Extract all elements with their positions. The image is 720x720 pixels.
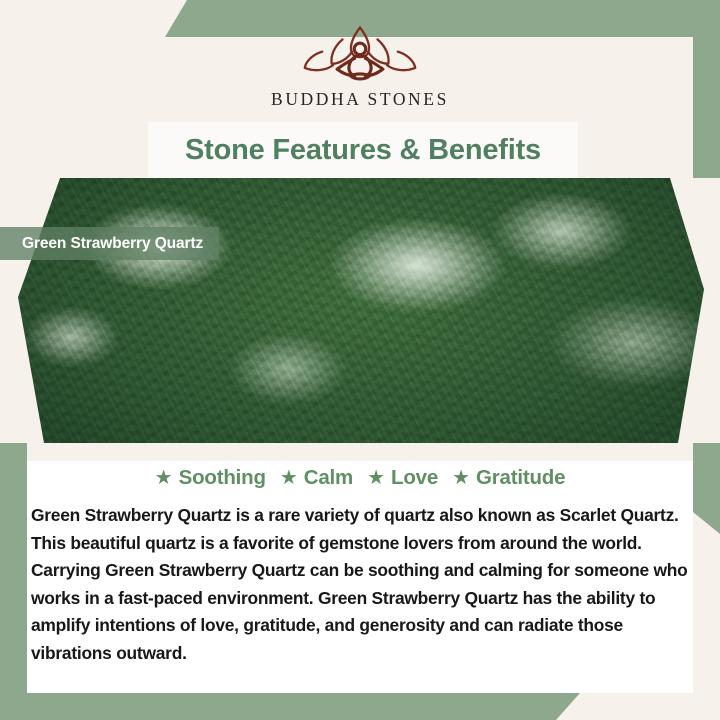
benefit-label-0: Soothing <box>179 466 266 490</box>
benefit-label-1: Calm <box>304 466 353 490</box>
benefit-label-2: Love <box>391 466 438 490</box>
page-title-band: Stone Features & Benefits <box>148 122 578 178</box>
infographic-card: BUDDHA STONES Stone Features & Benefits … <box>0 0 720 720</box>
decorative-frame-bottom <box>0 693 580 720</box>
photo-caption-label: Green Strawberry Quartz <box>22 235 203 253</box>
brand-name: BUDDHA STONES <box>271 89 449 110</box>
star-icon: ★ <box>155 468 173 488</box>
benefit-label-3: Gratitude <box>476 466 565 490</box>
description-text: Green Strawberry Quartz is a rare variet… <box>31 502 693 667</box>
brand-header: BUDDHA STONES <box>0 0 720 120</box>
star-icon: ★ <box>452 468 470 488</box>
benefits-row: ★ Soothing ★ Calm ★ Love ★ Gratitude <box>0 466 720 490</box>
benefit-item-2: ★ Love <box>367 466 438 490</box>
star-icon: ★ <box>367 468 385 488</box>
gemstone-photo-texture <box>0 178 720 443</box>
benefit-item-0: ★ Soothing <box>155 466 266 490</box>
star-icon: ★ <box>280 468 298 488</box>
page-title: Stone Features & Benefits <box>185 134 541 167</box>
photo-caption-band: Green Strawberry Quartz <box>0 227 219 260</box>
gemstone-photo <box>0 178 720 443</box>
benefit-item-1: ★ Calm <box>280 466 353 490</box>
benefit-item-3: ★ Gratitude <box>452 466 565 490</box>
lotus-meditation-icon <box>290 22 430 84</box>
content-top-strip <box>27 443 693 461</box>
